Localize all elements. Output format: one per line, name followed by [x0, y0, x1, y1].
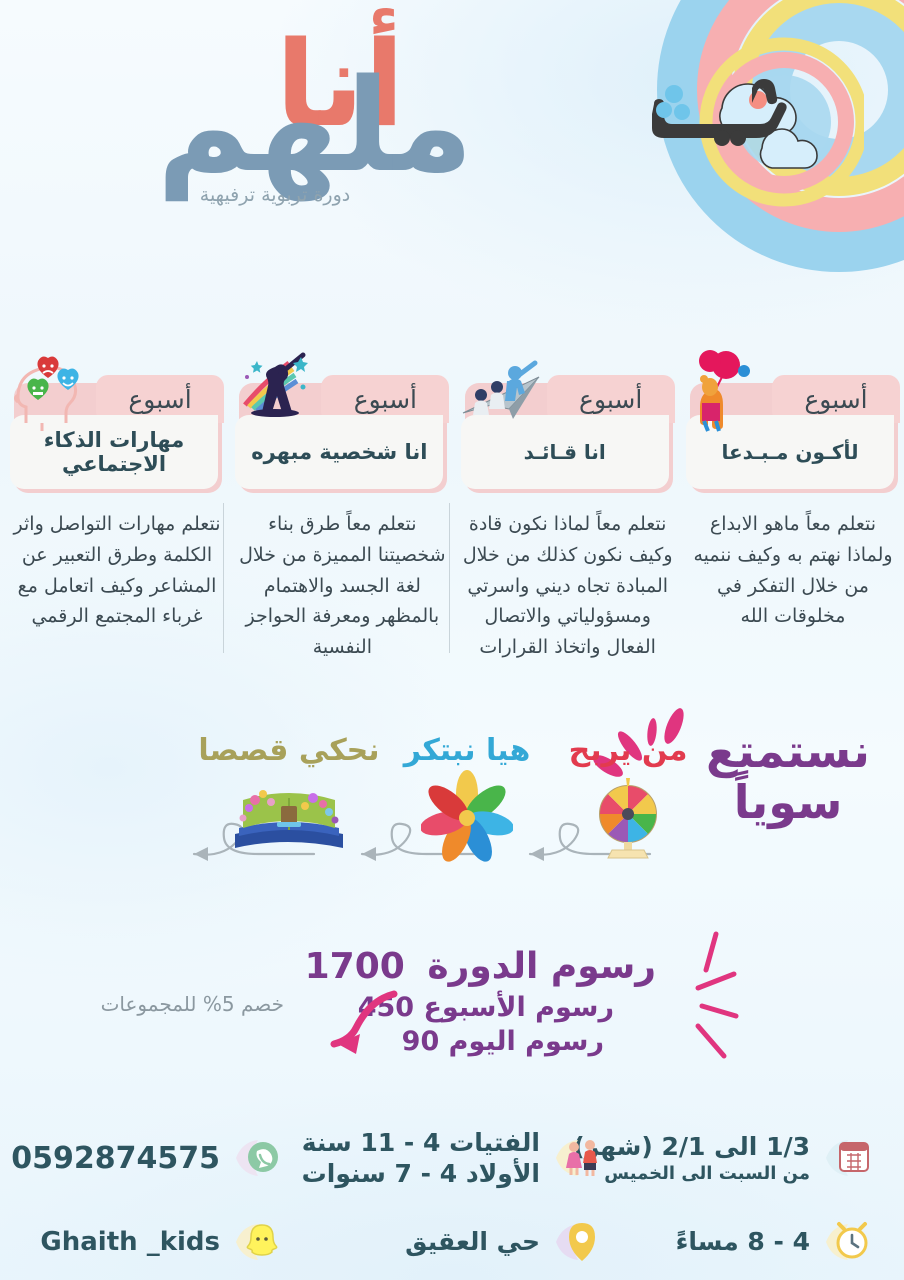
activity-lets-innovate[interactable]: هيا نبتكر [382, 736, 552, 862]
curved-arrow-icon [294, 982, 414, 1072]
snapchat-handle: Ghaith _kids [40, 1227, 220, 1257]
course-fee-line: رسوم الدورة 1700 [305, 946, 656, 987]
week-description: نتعلم معاً ماهو الابداع ولماذا نهتم به و… [686, 509, 900, 632]
week-title: انا قـائـد [524, 441, 606, 464]
enjoy-line-1: نستمتع [688, 728, 888, 774]
week-title: مهارات الذكاء الاجتماعي [18, 428, 210, 476]
poster-root: أنا ملهم دورة تربوية ترفيهية [0, 0, 904, 1280]
calendar-icon [820, 1131, 874, 1185]
footer-time: 4 - 8 مساءً [604, 1215, 904, 1269]
week-title: لأكـون مـبـدعا [722, 441, 859, 464]
pricing-section: رسوم الدورة 1700 رسوم الأسبوع 450 رسوم ا… [0, 930, 904, 1090]
course-fee-value: 1700 [305, 946, 405, 987]
poster-title-block: أنا ملهم دورة تربوية ترفيهية [0, 28, 640, 206]
weeks-section: أسبوع لأكـون مـبـدعا نتعلم معاً ماهو الا… [0, 355, 904, 665]
time-value: 4 - 8 مساءً [676, 1226, 810, 1257]
poster-header: أنا ملهم دورة تربوية ترفيهية [0, 0, 904, 300]
activities-section: نستمتع سوياً من يربح [0, 700, 904, 900]
footer-snapchat[interactable]: Ghaith _kids [0, 1215, 284, 1269]
children-icon [550, 1131, 604, 1185]
head-emotion-hearts-icon [6, 347, 96, 433]
enjoy-line-2: سوياً [688, 778, 888, 826]
week-tab-label: أسبوع [128, 385, 191, 414]
date-sub: من السبت الى الخميس [573, 1163, 810, 1186]
popup-storybook-icon [229, 770, 349, 862]
week-tab-label: أسبوع [354, 385, 417, 414]
footer-ages: الفتيات 4 - 11 سنة الأولاد 4 - 7 سنوات [284, 1127, 604, 1190]
footer-row-bottom: 4 - 8 مساءً حي العقيق [0, 1215, 904, 1269]
activity-who-wins[interactable]: من يربح [548, 736, 708, 862]
pink-rays-icon [624, 930, 744, 1080]
day-fee-line: رسوم اليوم 90 [402, 1026, 604, 1057]
week-description: نتعلم معاً طرق بناء شخصيتنا المميزة من خ… [235, 509, 449, 663]
footer-location: حي العقيق [284, 1215, 604, 1269]
week-description: نتعلم معاً لماذا نكون قادة وكيف نكون كذل… [461, 509, 675, 663]
whatsapp-icon [230, 1131, 284, 1185]
week-card-social-intelligence: أسبوع مهارات الذكاء الاجتماعي نتعلم مهار… [4, 355, 224, 665]
week-card[interactable]: أسبوع انا شخصية مبهره [235, 375, 449, 493]
title-part-molhem: ملهم [0, 76, 640, 178]
week-card[interactable]: أسبوع لأكـون مـبـدعا [686, 375, 900, 493]
footer-date: 1/3 الى 2/1 (شهر) من السبت الى الخميس [604, 1127, 904, 1190]
poster-footer: 1/3 الى 2/1 (شهر) من السبت الى الخميس [0, 1115, 904, 1280]
clock-icon [820, 1215, 874, 1269]
enjoy-together-heading: نستمتع سوياً [688, 728, 888, 826]
week-card-creative: أسبوع لأكـون مـبـدعا نتعلم معاً ماهو الا… [680, 355, 900, 665]
week-card-personality: أسبوع انا شخصية مبهره نتعلم معاً طرق بنا… [229, 355, 449, 665]
ages-girls: الفتيات 4 - 11 سنة [302, 1127, 540, 1158]
week-card-leader: أسبوع انا قـائـد نتعلم معاً لماذا نكون ق… [455, 355, 675, 665]
star-child-silhouette-icon [231, 347, 321, 433]
activity-label: من يربح [548, 736, 708, 766]
paper-flower-icon [421, 770, 513, 862]
week-title: انا شخصية مبهره [251, 440, 427, 464]
map-pin-icon [550, 1215, 604, 1269]
ages-boys: الأولاد 4 - 7 سنوات [302, 1158, 540, 1189]
paper-plane-team-icon [457, 347, 547, 433]
prize-wheel-icon [582, 770, 674, 862]
group-discount-note: خصم 5% للمجموعات [101, 992, 284, 1016]
footer-whatsapp[interactable]: 0592874575 [0, 1127, 284, 1190]
phone-number: 0592874575 [11, 1141, 220, 1176]
location-value: حي العقيق [405, 1226, 540, 1257]
week-description: نتعلم مهارات التواصل واثر الكلمة وطرق ال… [10, 509, 224, 632]
activity-label: هيا نبتكر [382, 736, 552, 766]
footer-row-top: 1/3 الى 2/1 (شهر) من السبت الى الخميس [0, 1127, 904, 1190]
activity-tell-stories[interactable]: نحكي قصصا [194, 736, 384, 862]
course-fee-label: رسوم الدورة [427, 946, 656, 987]
activity-label: نحكي قصصا [194, 736, 384, 766]
week-card[interactable]: أسبوع انا قـائـد [461, 375, 675, 493]
snapchat-ghost-icon [230, 1215, 284, 1269]
poster-subtitle: دورة تربوية ترفيهية [0, 184, 640, 206]
child-balloons-icon [682, 347, 772, 433]
week-tab-label: أسبوع [804, 385, 867, 414]
date-main: 1/3 الى 2/1 (شهر) [573, 1131, 810, 1162]
week-tab-label: أسبوع [579, 385, 642, 414]
week-card[interactable]: أسبوع مهارات الذكاء الاجتماعي [10, 375, 224, 493]
